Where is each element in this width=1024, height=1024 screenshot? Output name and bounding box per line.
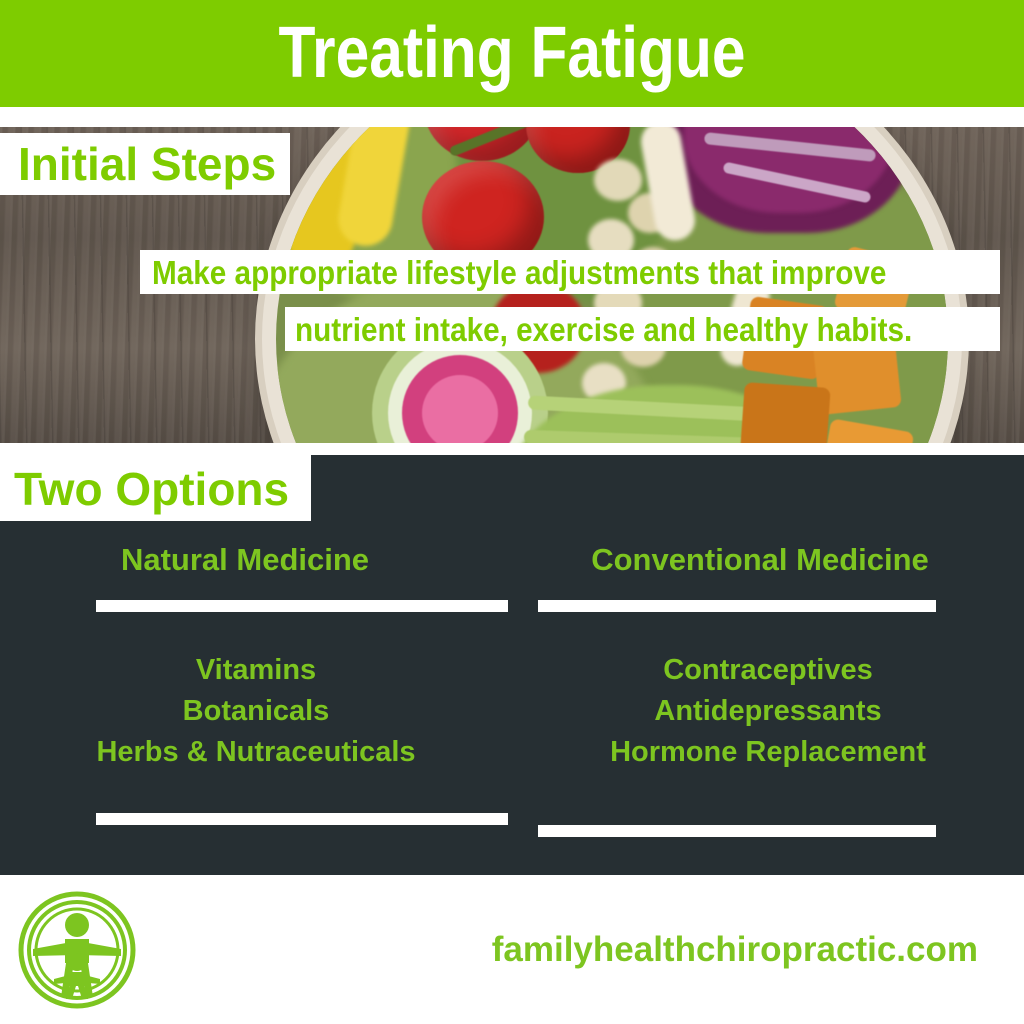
page-title: Treating Fatigue bbox=[82, 8, 942, 98]
column-conventional-medicine-top-rule bbox=[538, 600, 936, 612]
list-item: Botanicals bbox=[0, 691, 512, 732]
list-item: Vitamins bbox=[0, 650, 512, 691]
infographic-poster: Treating Fatigue bbox=[0, 0, 1024, 1024]
site-url[interactable]: familyhealthchiropractic.com bbox=[0, 930, 1024, 970]
initial-steps-label: Initial Steps bbox=[0, 133, 290, 195]
column-natural-medicine-list: Vitamins Botanicals Herbs & Nutraceutica… bbox=[0, 650, 534, 773]
list-item: Herbs & Nutraceuticals bbox=[0, 732, 512, 773]
column-conventional-medicine: Conventional Medicine Contraceptives Ant… bbox=[512, 540, 1024, 860]
column-natural-medicine-top-rule bbox=[96, 600, 508, 612]
column-conventional-medicine-list: Contraceptives Antidepressants Hormone R… bbox=[512, 650, 1024, 773]
column-natural-medicine: Natural Medicine Vitamins Botanicals Her… bbox=[0, 540, 512, 860]
initial-steps-line-2-text: nutrient intake, exercise and healthy ha… bbox=[295, 313, 912, 346]
initial-steps-line-1-text: Make appropriate lifestyle adjustments t… bbox=[152, 256, 886, 289]
column-conventional-medicine-heading: Conventional Medicine bbox=[512, 540, 1024, 580]
column-natural-medicine-heading: Natural Medicine bbox=[0, 540, 512, 580]
list-item: Hormone Replacement bbox=[512, 732, 1024, 773]
initial-steps-line-2: nutrient intake, exercise and healthy ha… bbox=[285, 307, 1000, 351]
options-columns: Natural Medicine Vitamins Botanicals Her… bbox=[0, 540, 1024, 860]
column-natural-medicine-bottom-rule bbox=[96, 813, 508, 825]
initial-steps-line-1: Make appropriate lifestyle adjustments t… bbox=[140, 250, 1000, 294]
list-item: Antidepressants bbox=[512, 691, 1024, 732]
column-conventional-medicine-bottom-rule bbox=[538, 825, 936, 837]
two-options-label-text: Two Options bbox=[14, 466, 289, 512]
two-options-label: Two Options bbox=[0, 457, 311, 521]
footer: familyhealthchiropractic.com bbox=[0, 875, 1024, 1024]
initial-steps-label-text: Initial Steps bbox=[18, 141, 276, 187]
list-item: Contraceptives bbox=[512, 650, 1024, 691]
